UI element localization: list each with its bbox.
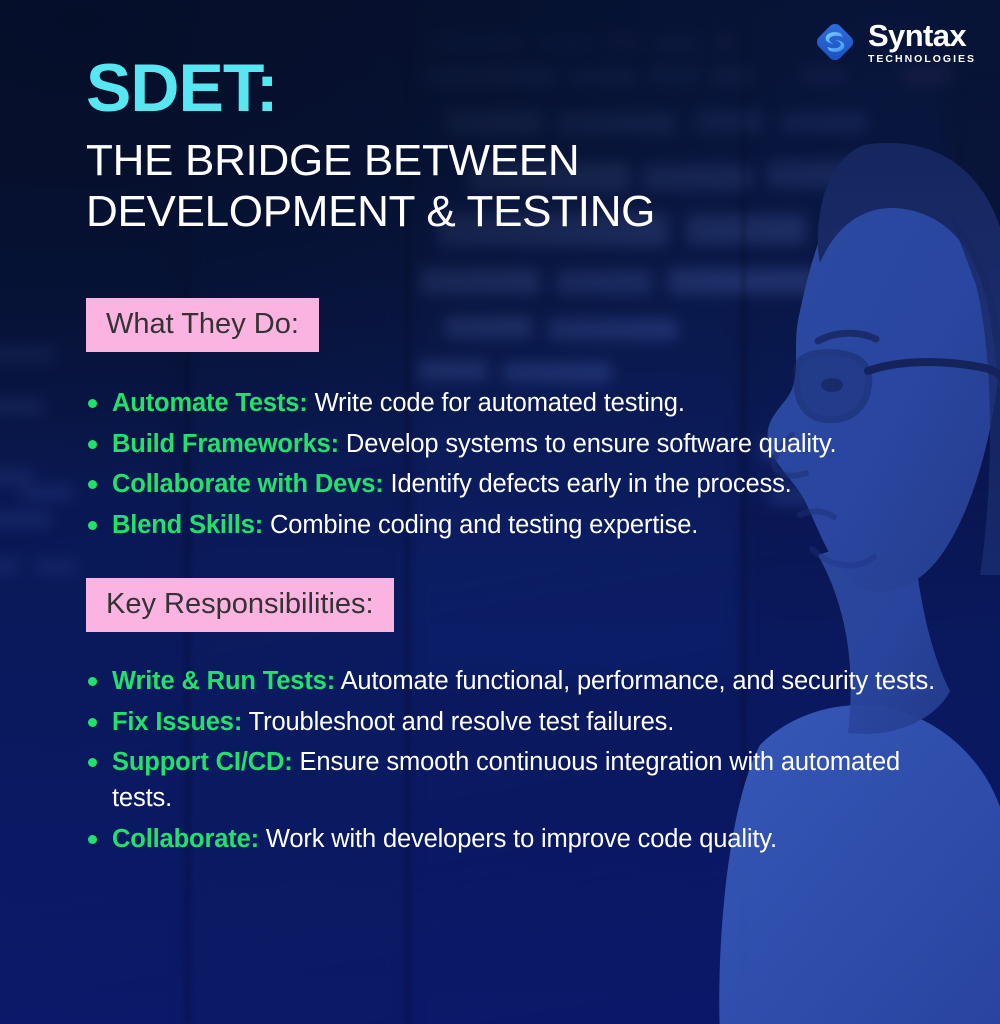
- list-item-text: Develop systems to ensure software quali…: [339, 430, 837, 458]
- title-sub: THE BRIDGE BETWEEN DEVELOPMENT & TESTING: [86, 135, 846, 237]
- list-item-text: Work with developers to improve code qua…: [259, 825, 777, 853]
- title-sub-line1: THE BRIDGE BETWEEN: [86, 135, 846, 186]
- page-title: SDET: THE BRIDGE BETWEEN DEVELOPMENT & T…: [86, 56, 846, 237]
- bullet-list-key-responsibilities: Write & Run Tests: Automate functional, …: [86, 664, 948, 862]
- list-item-text: Identify defects early in the process.: [384, 470, 792, 498]
- brand-subtitle: TECHNOLOGIES: [868, 54, 976, 65]
- list-item-label: Collaborate:: [112, 825, 259, 853]
- section-heading-key-responsibilities: Key Responsibilities:: [86, 578, 394, 632]
- list-item: Fix Issues: Troubleshoot and resolve tes…: [86, 705, 948, 741]
- list-item-label: Fix Issues:: [112, 708, 242, 736]
- list-item-text: Automate functional, performance, and se…: [335, 667, 935, 695]
- list-item: Collaborate: Work with developers to imp…: [86, 822, 948, 858]
- title-sub-line2: DEVELOPMENT & TESTING: [86, 186, 846, 237]
- list-item-label: Collaborate with Devs:: [112, 470, 384, 498]
- list-item: Blend Skills: Combine coding and testing…: [86, 508, 948, 544]
- list-item-label: Automate Tests:: [112, 389, 308, 417]
- list-item-label: Support CI/CD:: [112, 748, 293, 776]
- list-item: Write & Run Tests: Automate functional, …: [86, 664, 948, 700]
- section-heading-what-they-do: What They Do:: [86, 298, 319, 352]
- list-item: Support CI/CD: Ensure smooth continuous …: [86, 745, 948, 816]
- list-item-label: Blend Skills:: [112, 511, 263, 539]
- list-item-text: Combine coding and testing expertise.: [263, 511, 698, 539]
- list-item-text: Write code for automated testing.: [308, 389, 685, 417]
- list-item-text: Troubleshoot and resolve test failures.: [242, 708, 674, 736]
- bullet-list-what-they-do: Automate Tests: Write code for automated…: [86, 386, 948, 549]
- list-item: Build Frameworks: Develop systems to ens…: [86, 427, 948, 463]
- title-main: SDET:: [86, 56, 846, 121]
- list-item-label: Write & Run Tests:: [112, 667, 335, 695]
- list-item-label: Build Frameworks:: [112, 430, 339, 458]
- infographic-poster: Syntax TECHNOLOGIES SDET: THE BRIDGE BET…: [0, 0, 1000, 1024]
- list-item: Collaborate with Devs: Identify defects …: [86, 467, 948, 503]
- list-item: Automate Tests: Write code for automated…: [86, 386, 948, 422]
- brand-name: Syntax: [868, 20, 966, 51]
- person-profile-illustration: [650, 105, 1000, 1024]
